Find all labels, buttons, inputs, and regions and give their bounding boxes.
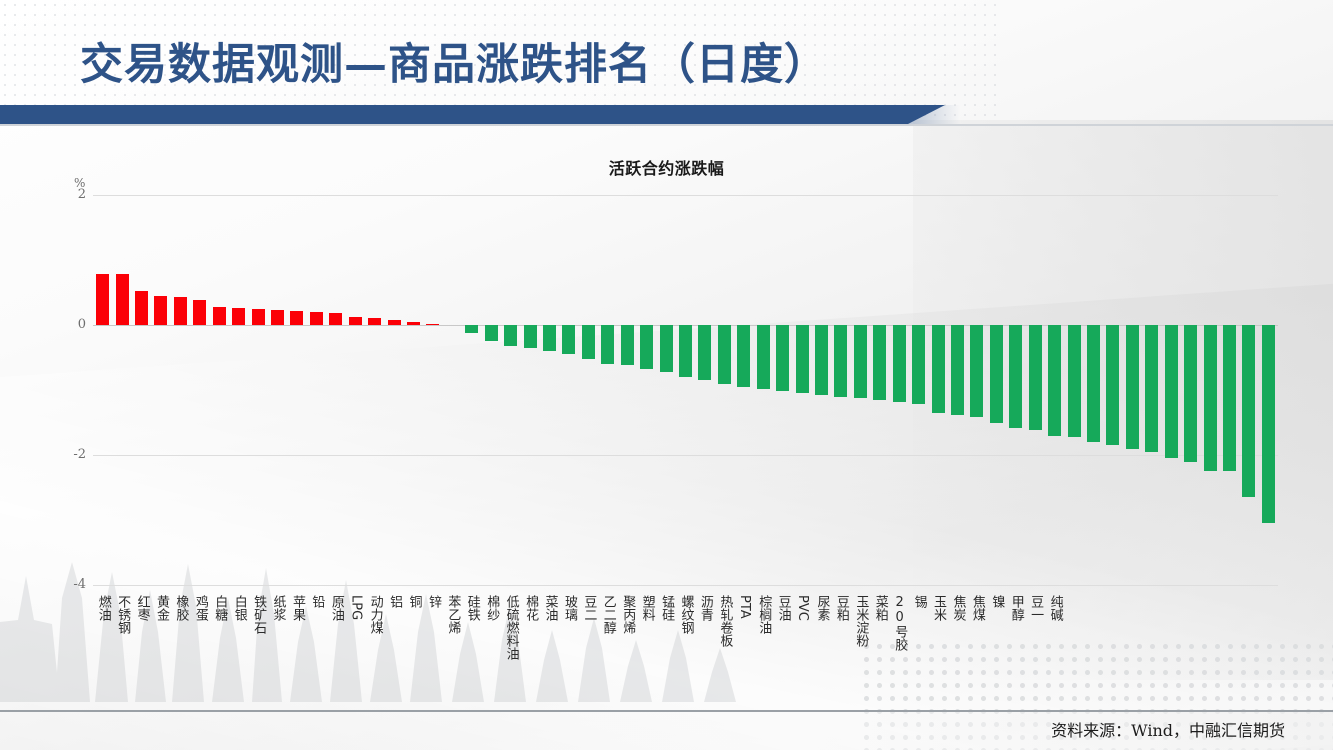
x-axis-label: 菜粕 <box>872 595 888 621</box>
chart-bar <box>834 325 847 397</box>
slide-title-band: 交易数据观测—商品涨跌排名（日度） <box>0 0 960 120</box>
x-axis-label: 棉纱 <box>483 595 499 621</box>
x-axis-label: 豆粕 <box>833 595 849 621</box>
chart-bar <box>135 291 148 325</box>
chart-bar <box>1145 325 1158 452</box>
x-axis-label: 20号胶 <box>891 595 907 651</box>
y-axis-tick-label: 0 <box>46 317 86 332</box>
title-accent-bar-shadow <box>900 105 960 124</box>
x-axis-label: 螺纹钢 <box>678 595 694 634</box>
chart-bar <box>582 325 595 359</box>
chart-bar <box>951 325 964 415</box>
x-axis-label: 豆一 <box>1027 595 1043 621</box>
chart-plot-area: 20-2-4 <box>93 195 1278 585</box>
chart-bar <box>174 297 187 325</box>
x-axis-label: 锰硅 <box>658 595 674 621</box>
chart-bar <box>562 325 575 354</box>
chart-bar <box>232 308 245 325</box>
x-axis-label: 苹果 <box>289 595 305 621</box>
x-axis-label: 动力煤 <box>367 595 383 634</box>
x-axis-label: 不锈钢 <box>114 595 130 634</box>
gridline-neg2 <box>93 455 1278 456</box>
chart-title: 活跃合约涨跌幅 <box>0 155 1333 179</box>
chart-bar <box>524 325 537 348</box>
title-accent-bar <box>0 105 945 124</box>
chart-bar <box>116 274 129 325</box>
chart-bar <box>213 307 226 325</box>
x-axis-label: 铜 <box>406 595 422 608</box>
chart-bar <box>1048 325 1061 436</box>
chart-bar <box>854 325 867 398</box>
chart-bar <box>776 325 789 391</box>
chart-bar <box>815 325 828 395</box>
x-axis-label: LPG <box>347 595 363 620</box>
x-axis-label: 铅 <box>308 595 324 608</box>
chart-bar <box>154 296 167 325</box>
chart-bar <box>737 325 750 387</box>
chart-bar <box>893 325 906 402</box>
chart-bar <box>1165 325 1178 458</box>
x-axis-label: 尿素 <box>813 595 829 621</box>
chart-bar <box>349 317 362 325</box>
x-axis-labels: 燃油不锈钢红枣黄金橡胶鸡蛋白糖白银铁矿石纸浆苹果铅原油LPG动力煤铝铜锌苯乙烯硅… <box>93 595 1278 715</box>
x-axis-label: 锌 <box>425 595 441 608</box>
source-note: 资料来源：Wind，中融汇信期货 <box>1051 717 1285 741</box>
chart-bar <box>465 325 478 333</box>
x-axis-label: 玻璃 <box>561 595 577 621</box>
chart-bar <box>640 325 653 369</box>
x-axis-label: PTA <box>736 595 752 619</box>
x-axis-label: 焦煤 <box>969 595 985 621</box>
x-axis-label: 铁矿石 <box>250 595 266 634</box>
x-axis-label: 菜油 <box>542 595 558 621</box>
chart-bar <box>329 313 342 325</box>
x-axis-label: 铝 <box>386 595 402 608</box>
x-axis-label: 燃油 <box>95 595 111 621</box>
chart-bar <box>1204 325 1217 471</box>
x-axis-label: 原油 <box>328 595 344 621</box>
x-axis-label: 橡胶 <box>172 595 188 621</box>
page-title: 交易数据观测—商品涨跌排名（日度） <box>80 30 828 92</box>
chart-bar <box>1262 325 1275 523</box>
chart-bar <box>1242 325 1255 497</box>
x-axis-label: 苯乙烯 <box>444 595 460 634</box>
x-axis-label: PVC <box>794 595 810 621</box>
chart-bar <box>388 320 401 325</box>
x-axis-label: 黄金 <box>153 595 169 621</box>
x-axis-label: 热轧卷板 <box>716 595 732 647</box>
chart-bar <box>1029 325 1042 430</box>
x-axis-label: 硅铁 <box>464 595 480 621</box>
chart-bar <box>621 325 634 365</box>
chart-bar <box>504 325 517 346</box>
chart-bar <box>96 274 109 325</box>
chart-bar <box>1068 325 1081 437</box>
slide-canvas: 交易数据观测—商品涨跌排名（日度） 活跃合约涨跌幅 % 20-2-4 燃油不锈钢… <box>0 0 1333 750</box>
chart-bar <box>601 325 614 364</box>
chart-bar <box>252 309 265 325</box>
chart-bar <box>426 324 439 325</box>
chart-bar <box>1087 325 1100 442</box>
x-axis-label: 红枣 <box>134 595 150 621</box>
chart-bar <box>290 311 303 325</box>
x-axis-label: 聚丙烯 <box>619 595 635 634</box>
chart-bar <box>1126 325 1139 449</box>
y-axis-tick-label: -2 <box>46 447 86 462</box>
chart-bar <box>679 325 692 377</box>
chart-bar <box>912 325 925 404</box>
y-axis-tick-label: -4 <box>46 577 86 592</box>
x-axis-label: 玉米 <box>930 595 946 621</box>
chart-bar <box>310 312 323 325</box>
chart-bar <box>757 325 770 389</box>
x-axis-label: 低硫燃料油 <box>503 595 519 660</box>
chart-container: 活跃合约涨跌幅 % 20-2-4 <box>0 140 1333 610</box>
chart-bar <box>796 325 809 393</box>
chart-bar <box>698 325 711 380</box>
x-axis-label: 焦炭 <box>949 595 965 621</box>
x-axis-label: 乙二醇 <box>600 595 616 634</box>
x-axis-label: 塑料 <box>639 595 655 621</box>
chart-bar <box>193 300 206 325</box>
x-axis-label: 纸浆 <box>270 595 286 621</box>
chart-bar <box>485 325 498 341</box>
x-axis-label: 白糖 <box>211 595 227 621</box>
chart-bar <box>873 325 886 400</box>
chart-bar <box>970 325 983 417</box>
x-axis-label: 甲醇 <box>1008 595 1024 621</box>
x-axis-label: 纯碱 <box>1047 595 1063 621</box>
x-axis-label: 棕榈油 <box>755 595 771 634</box>
x-axis-label: 豆油 <box>775 595 791 621</box>
gridline-neg4 <box>93 585 1278 586</box>
chart-bar <box>1184 325 1197 462</box>
x-axis-label: 玉米淀粉 <box>852 595 868 647</box>
x-axis-label: 鸡蛋 <box>192 595 208 621</box>
source-footer-bar: 资料来源：Wind，中融汇信期货 <box>0 710 1333 750</box>
chart-bar <box>1106 325 1119 445</box>
x-axis-label: 白银 <box>231 595 247 621</box>
chart-bar <box>932 325 945 413</box>
title-divider <box>0 124 1333 126</box>
chart-bar <box>407 322 420 325</box>
x-axis-label: 棉花 <box>522 595 538 621</box>
chart-bar <box>718 325 731 384</box>
y-axis-tick-label: 2 <box>46 187 86 202</box>
x-axis-label: 镍 <box>988 595 1004 608</box>
x-axis-label: 沥青 <box>697 595 713 621</box>
chart-bar <box>660 325 673 372</box>
chart-bar <box>1009 325 1022 428</box>
chart-bar <box>271 310 284 325</box>
chart-bar <box>1223 325 1236 471</box>
chart-bar <box>990 325 1003 423</box>
gridline-2 <box>93 195 1278 196</box>
x-axis-label: 锡 <box>911 595 927 608</box>
chart-bar <box>368 318 381 325</box>
x-axis-label: 豆二 <box>580 595 596 621</box>
chart-bar <box>543 325 556 351</box>
